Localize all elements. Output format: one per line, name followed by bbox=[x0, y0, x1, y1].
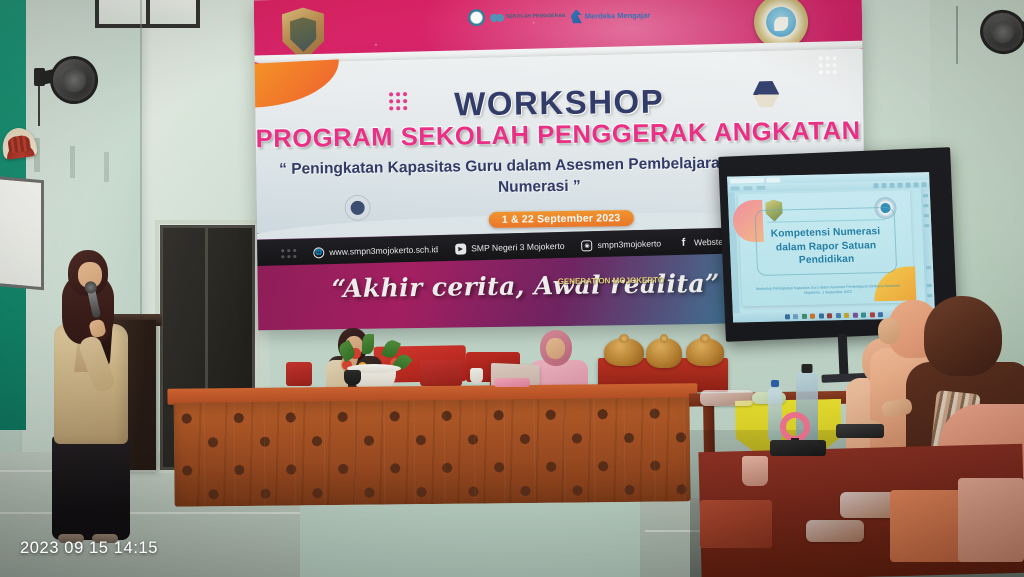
merdeka-mengajar-label: Merdeka Mengajar bbox=[585, 11, 651, 20]
presenter-skirt bbox=[52, 436, 130, 540]
batik-table-skirt bbox=[174, 397, 691, 506]
globe-icon: 🌐 bbox=[313, 247, 324, 258]
bottle-cap bbox=[771, 380, 779, 387]
toolbar-right-group bbox=[873, 182, 926, 188]
current-slide: Kompetensi Numerasi dalam Rapor Satuan P… bbox=[738, 191, 915, 307]
bottle-cap bbox=[802, 364, 813, 373]
slide-title: Kompetensi Numerasi dalam Rapor Satuan P… bbox=[757, 225, 895, 269]
banner-dot-grid-white bbox=[819, 56, 837, 74]
gamelan-gong-3 bbox=[686, 338, 724, 366]
tan-handbag bbox=[958, 478, 1024, 562]
person-face bbox=[546, 338, 565, 359]
brown-bag bbox=[700, 500, 772, 548]
laptop-edge bbox=[770, 440, 826, 456]
instagram-icon: ◉ bbox=[581, 240, 592, 251]
website-text: www.smpn3mojokerto.sch.id bbox=[329, 244, 438, 257]
red-chair-2 bbox=[286, 362, 312, 386]
gamelan-gong-2 bbox=[646, 338, 682, 368]
drink-cup bbox=[742, 456, 768, 486]
youtube-icon: ▶ bbox=[455, 243, 466, 254]
projector-screen-leg bbox=[838, 334, 849, 376]
fan-cord bbox=[956, 6, 958, 64]
pink-pouch bbox=[494, 378, 530, 387]
banner-date-badge: 1 & 22 September 2023 bbox=[489, 210, 634, 228]
red-chair-1 bbox=[420, 360, 462, 386]
gamelan-gong-1 bbox=[604, 338, 644, 366]
standing-presenter bbox=[38, 250, 148, 540]
sekolah-penggerak-logo: SEKOLAH PENGGERAK bbox=[490, 11, 566, 22]
snack-pack-3 bbox=[806, 520, 864, 542]
banner-tagline: “Akhir cerita, Awal realita” bbox=[332, 269, 720, 303]
paper-cup bbox=[470, 368, 483, 384]
sekolah-penggerak-label: SEKOLAH PENGGERAK bbox=[506, 14, 566, 20]
dark-device bbox=[836, 424, 884, 438]
clerestory-window bbox=[95, 0, 200, 28]
fan-cord bbox=[38, 84, 40, 126]
black-bowl bbox=[344, 370, 361, 385]
facebook-icon: f bbox=[678, 237, 689, 248]
contact-dot-grid bbox=[281, 248, 296, 257]
bird-icon bbox=[571, 9, 582, 23]
instagram-text: smpn3mojokerto bbox=[597, 238, 661, 250]
toolbar-left-group bbox=[730, 186, 765, 190]
head-table bbox=[167, 383, 698, 509]
crest-leaf-emblem bbox=[774, 16, 788, 30]
browser-tab bbox=[730, 177, 764, 183]
person-face bbox=[878, 318, 900, 344]
tut-wuri-handayani-logo bbox=[468, 9, 485, 26]
generation-mojokerto-text: GENERATION MOJOKERTO bbox=[558, 277, 665, 287]
orange-handbag bbox=[890, 490, 964, 562]
person-head-hijab bbox=[924, 296, 1002, 376]
wall-groove-2 bbox=[70, 146, 75, 178]
camera-timestamp: 2023 09 15 14:15 bbox=[20, 539, 158, 558]
workshop-photograph: SEKOLAH PENGGERAK Merdeka Mengajar WORKS… bbox=[0, 0, 1024, 577]
wall-groove-3 bbox=[104, 152, 109, 182]
banner-logo-row: SEKOLAH PENGGERAK Merdeka Mengajar bbox=[468, 7, 650, 27]
browser-tab bbox=[766, 177, 780, 182]
youtube-text: SMP Negeri 3 Mojokerto bbox=[471, 241, 565, 253]
white-equipment-bundle bbox=[700, 390, 754, 406]
merdeka-mengajar-logo: Merdeka Mengajar bbox=[571, 8, 651, 23]
gears-icon bbox=[490, 12, 504, 22]
